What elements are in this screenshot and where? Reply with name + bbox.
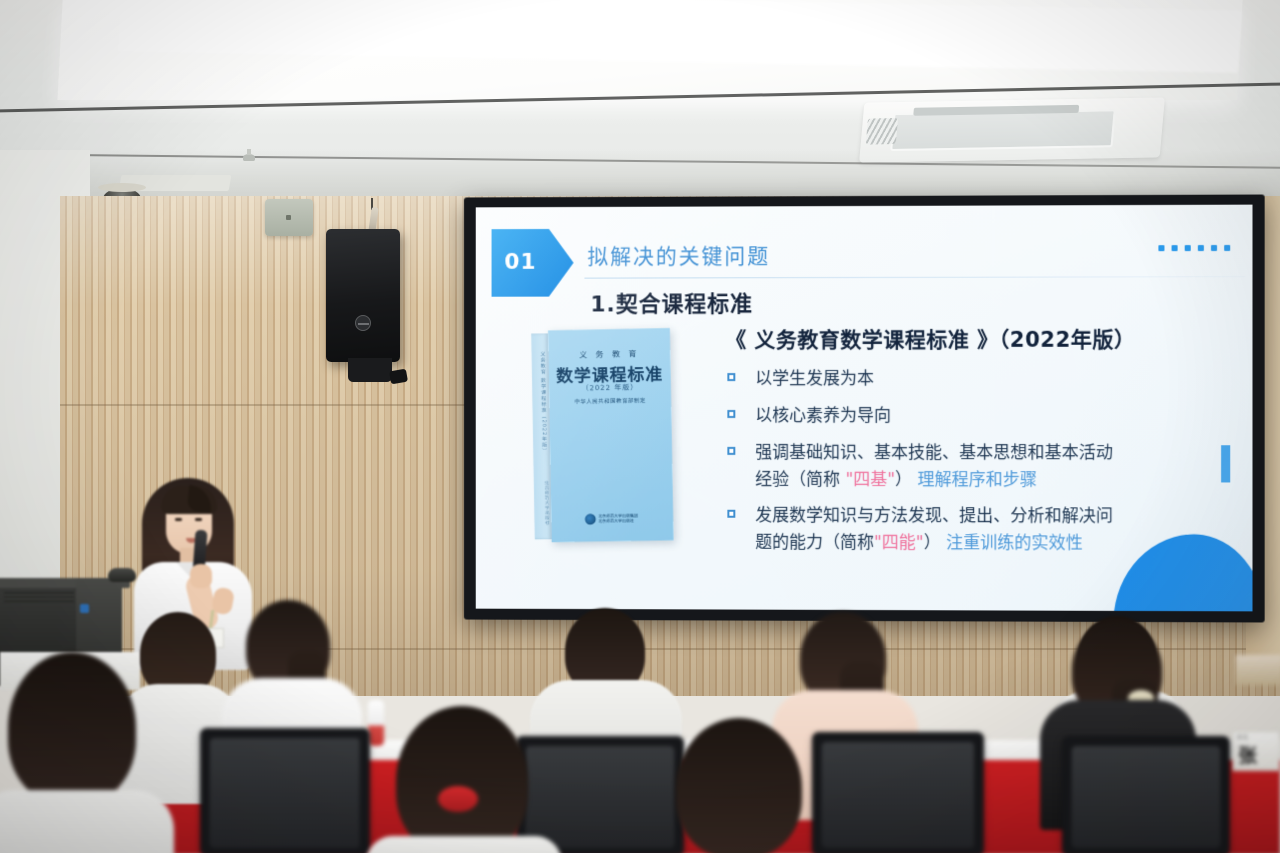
presenter-eye-right [195, 518, 202, 521]
slide-accent-bar [1221, 445, 1230, 482]
audience-head [676, 718, 802, 853]
bullet-text: 发展数学知识与方法发现、提出、分析和解决问 [755, 506, 1113, 527]
audience-head [8, 652, 136, 804]
book-line-3: （2022 年版） [549, 382, 671, 394]
dot-icon-4 [1198, 245, 1204, 251]
curriculum-standard-book-image: 义务教育 数学课程标准（2022年版） 北京师范大学出版社 义 务 教 育 数学… [531, 328, 673, 542]
presentation-room-photo: 01 拟解决的关键问题 1.契合课程标准 义务教育 数学课程标准（2022 [0, 0, 1280, 853]
bullet-line: 经验（简称 "四基"） 理解程序和步骤 [755, 466, 1227, 494]
ceiling-air-conditioner-icon [859, 97, 1165, 162]
slide-bullet: 以核心素养为导向 [725, 403, 1227, 430]
book-spine-publisher: 北京师范大学出版社 [537, 481, 550, 526]
av-rack-indicator [80, 604, 89, 613]
book-line-1: 义 务 教 育 [548, 348, 670, 361]
presenter-eye-left [175, 518, 182, 521]
red-scrunchie-icon [438, 786, 478, 812]
bullet-square-icon [727, 410, 735, 418]
chair-mesh [526, 746, 674, 848]
bullet-text: ） [924, 533, 946, 553]
bullet-text: 强调基础知识、基本技能、基本思想和基本活动 [755, 443, 1113, 463]
bullet-line: 强调基础知识、基本技能、基本思想和基本活动 [755, 440, 1227, 467]
bullet-highlight-blue: 注重训练的实效性 [946, 533, 1083, 553]
bullet-line: 发展数学知识与方法发现、提出、分析和解决问 [755, 503, 1227, 531]
dot-icon-5 [1211, 245, 1217, 251]
slide-section-badge: 01 [492, 229, 574, 297]
bullet-line: 以学生发展为本 [755, 366, 1227, 393]
wall-equipment-box [265, 199, 313, 236]
audience-body [0, 790, 174, 853]
slide-section-number: 01 [504, 250, 536, 275]
chair-mesh [210, 738, 360, 848]
presentation-display[interactable]: 01 拟解决的关键问题 1.契合课程标准 义务教育 数学课程标准（2022 [464, 195, 1265, 623]
desk-right-edge [1236, 655, 1280, 685]
chair-mesh [1072, 746, 1220, 848]
publisher-logo: 北京师范大学出版集团 北京师范大学出版社 [584, 511, 640, 526]
slide-bullet-list: 以学生发展为本以核心素养为导向强调基础知识、基本技能、基本思想和基本活动经验（简… [725, 366, 1227, 568]
dot-icon-2 [1172, 245, 1178, 251]
dot-icon-6 [1224, 245, 1230, 251]
speaker-mount [348, 358, 392, 382]
slide-canvas[interactable]: 01 拟解决的关键问题 1.契合课程标准 义务教育 数学课程标准（2022 [476, 205, 1253, 612]
attendee-name-card: 姓名 张 [1232, 731, 1280, 771]
bullet-square-icon [727, 373, 735, 381]
book-cover: 义 务 教 育 数学课程标准 （2022 年版） 中华人民共和国教育部制定 北京… [548, 328, 674, 542]
bullet-highlight-pink: "四基" [845, 470, 895, 490]
bullet-text: 经验（简称 [755, 469, 845, 489]
bullet-highlight-blue: 理解程序和步骤 [917, 470, 1036, 490]
book-spine-title: 义务教育 数学课程标准（2022年版） [534, 351, 549, 454]
computer-mouse-icon [108, 568, 136, 582]
audience-body [366, 836, 562, 853]
wall-speaker [326, 229, 400, 362]
bullet-square-icon [727, 447, 735, 455]
bullet-highlight-pink: "四能" [874, 533, 924, 553]
slide-bullet: 以学生发展为本 [725, 366, 1227, 393]
slide-decorative-dots [1158, 245, 1230, 251]
bullet-text: 以学生发展为本 [755, 369, 874, 389]
publisher-mark-icon [584, 513, 595, 524]
dot-icon-1 [1158, 245, 1164, 251]
presenter-hand-holding-mic [190, 564, 212, 588]
av-rack-vent [4, 592, 74, 602]
dot-icon-3 [1185, 245, 1191, 251]
name-card-text: 张 [1238, 741, 1257, 768]
publisher-line-2: 北京师范大学出版社 [598, 518, 634, 524]
chair-back-left [200, 728, 370, 853]
chair-back-center [516, 736, 684, 853]
bullet-text: ） [895, 470, 917, 490]
slide-header-divider [584, 276, 1245, 279]
bullet-text: 以核心素养为导向 [755, 406, 891, 426]
chair-back-far-right [1062, 736, 1230, 853]
speaker-logo-icon [355, 315, 371, 331]
bullet-square-icon [727, 510, 735, 518]
audience-head [396, 706, 528, 853]
chair-mesh [822, 742, 974, 848]
slide-section-title: 拟解决的关键问题 [587, 240, 770, 270]
name-card-header: 姓名 [1237, 734, 1249, 741]
slide-bullet: 强调基础知识、基本技能、基本思想和基本活动经验（简称 "四基"） 理解程序和步骤 [725, 440, 1227, 494]
book-line-4: 中华人民共和国教育部制定 [549, 396, 671, 406]
slide-main-title: 《 义务教育数学课程标准 》（2022年版） [725, 324, 1135, 355]
bullet-line: 以核心素养为导向 [755, 403, 1227, 430]
publisher-name: 北京师范大学出版集团 北京师范大学出版社 [598, 513, 638, 524]
display-screen[interactable]: 01 拟解决的关键问题 1.契合课程标准 义务教育 数学课程标准（2022 [476, 205, 1253, 612]
ac-louver [866, 118, 898, 145]
water-bottle-icon [368, 700, 384, 746]
chair-back-right [812, 732, 984, 853]
sprinkler-icon [243, 154, 255, 161]
slide-subtitle: 1.契合课程标准 [590, 286, 753, 318]
bullet-text: 题的能力（简称 [755, 533, 874, 553]
